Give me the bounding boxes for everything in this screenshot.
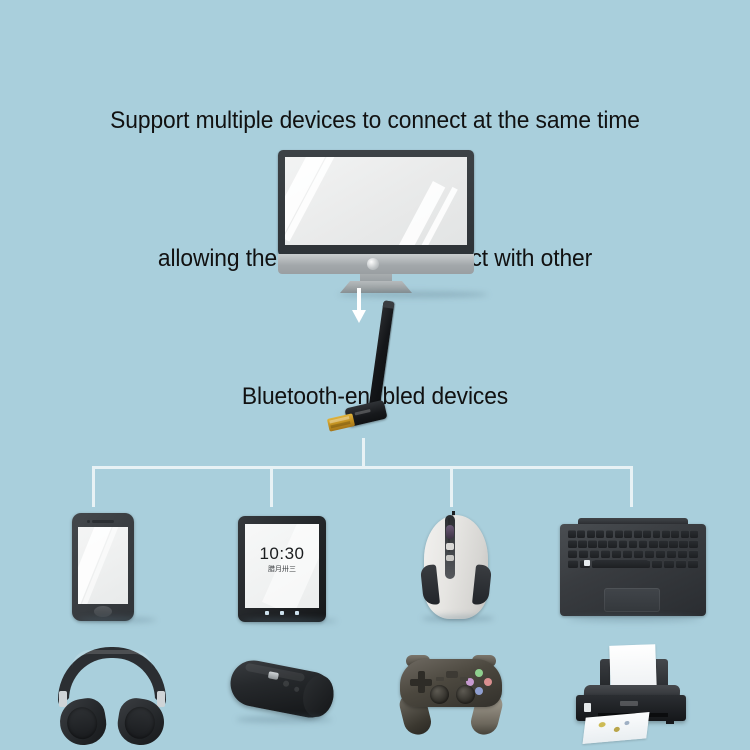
keyboard-keys: [568, 530, 698, 580]
phone-screen: [78, 527, 128, 604]
infographic-canvas: Support multiple devices to connect at t…: [0, 0, 750, 750]
usb-bluetooth-adapter-icon: [322, 300, 406, 440]
phone-shadow: [78, 617, 156, 623]
computer-monitor-icon: [278, 150, 474, 290]
connector-branch-1: [92, 466, 95, 507]
speaker-power-button: [268, 671, 279, 680]
usb-connector: [327, 413, 355, 432]
mouse-extra-button: [446, 555, 454, 561]
monitor-neck: [360, 274, 392, 281]
tablet-clock-date: 腊月卅三: [245, 564, 319, 574]
analog-stick-left: [430, 685, 449, 704]
connector-trunk: [362, 438, 365, 468]
select-button: [436, 677, 444, 681]
mouse-grip-right: [472, 564, 492, 605]
spacebar-key: [594, 560, 648, 568]
speaker-shadow: [236, 716, 332, 723]
monitor-bezel: [278, 150, 474, 256]
adapter-logo: [354, 409, 370, 416]
scroll-wheel-icon: [446, 525, 454, 539]
mouse-icon: [418, 511, 494, 623]
headphones-icon: [52, 647, 172, 745]
earpad: [65, 705, 100, 741]
windows-key-icon: [584, 560, 590, 566]
dpad-icon: [410, 671, 432, 693]
tablet-nav-buttons: [245, 611, 319, 616]
antenna: [368, 300, 394, 412]
antenna-tip: [383, 300, 395, 308]
input-paper-sheet: [609, 644, 657, 690]
printed-mark: [598, 722, 606, 728]
printed-mark: [624, 721, 629, 725]
headphone-yoke-right: [157, 691, 165, 707]
speaker-control-dot: [283, 680, 290, 687]
connector-bus: [92, 466, 633, 469]
connector-branch-3: [450, 466, 453, 507]
connector-branch-2: [270, 466, 273, 507]
gamepad-icon: [392, 655, 510, 737]
headband-highlight: [72, 650, 152, 668]
earpad: [123, 705, 158, 741]
keyboard-icon: [560, 518, 706, 620]
phone-camera: [87, 520, 90, 523]
printed-sheet: [583, 712, 650, 744]
keyboard-shadow: [568, 616, 700, 622]
printer-brand-badge: [620, 701, 638, 706]
heading-line-1: Support multiple devices to connect at t…: [26, 98, 724, 144]
printer-foot-right: [666, 719, 674, 724]
trackpad: [604, 588, 660, 612]
tablet-clock-time: 10:30: [245, 544, 319, 564]
analog-stick-right: [456, 685, 475, 704]
printed-mark: [614, 727, 621, 733]
tablet-icon: 10:30 腊月卅三: [238, 516, 326, 622]
mouse-dpi-button: [446, 543, 454, 550]
speaker-icon: [228, 656, 340, 732]
speaker-body: [227, 657, 338, 722]
speaker-endcap: [300, 673, 337, 720]
connector-branch-4: [630, 466, 633, 507]
power-button-icon: [367, 258, 379, 270]
mouse-shadow: [422, 615, 494, 622]
phone-earpiece: [92, 520, 114, 523]
gamepad-center-logo: [446, 671, 458, 678]
home-button-icon: [94, 606, 112, 617]
tablet-screen: 10:30 腊月卅三: [245, 524, 319, 608]
speaker-control-dot: [294, 686, 300, 692]
tablet-shadow: [242, 618, 337, 624]
printer-status-led: [584, 703, 591, 712]
printer-icon: [562, 645, 696, 741]
smartphone-icon: [72, 513, 134, 621]
monitor-screen: [285, 157, 467, 245]
start-button: [460, 677, 468, 681]
